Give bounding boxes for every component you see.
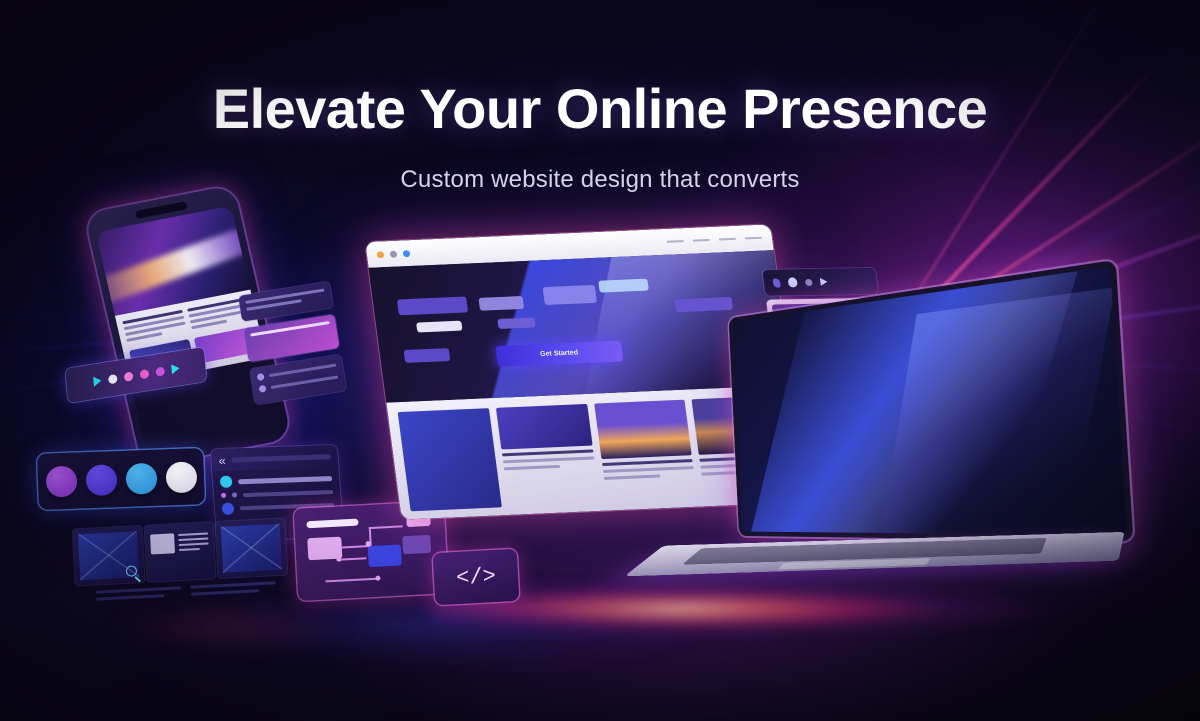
laptop-base — [624, 532, 1124, 576]
flow-node — [368, 544, 402, 567]
image-card[interactable] — [216, 518, 288, 578]
page-title: Elevate Your Online Presence — [0, 76, 1200, 141]
traffic-light-minimize-icon[interactable] — [389, 250, 397, 257]
toolbar-dot[interactable] — [139, 369, 149, 379]
traffic-light-maximize-icon[interactable] — [402, 250, 410, 257]
side-card[interactable] — [250, 355, 346, 405]
color-swatch-palette[interactable] — [37, 448, 205, 510]
laptop-mockup[interactable] — [648, 292, 1138, 592]
hero-block — [417, 321, 463, 332]
code-card[interactable]: </> — [433, 549, 520, 605]
page-subtitle: Custom website design that converts — [0, 166, 1200, 194]
image-search-card[interactable] — [73, 526, 145, 586]
play-arrow-icon[interactable] — [93, 376, 102, 387]
hero-block — [542, 285, 597, 305]
phone-text-column — [122, 310, 187, 345]
toolbar-dot[interactable] — [123, 371, 133, 381]
traffic-light-close-icon[interactable] — [376, 251, 384, 258]
hero-block — [397, 296, 468, 315]
laptop-lid — [729, 260, 1134, 542]
double-chevron-left-icon[interactable]: « — [218, 453, 226, 466]
code-glyph-icon: </> — [456, 563, 497, 590]
laptop-wallpaper — [732, 266, 1127, 535]
thumbnail-card-strip — [73, 518, 288, 585]
toolbar-dot[interactable] — [155, 366, 165, 376]
flow-node — [402, 535, 431, 554]
browser-nav-links[interactable] — [667, 236, 763, 243]
hero-block — [478, 296, 524, 310]
magnifier-icon — [125, 565, 137, 577]
content-card[interactable] — [496, 404, 600, 507]
text-block-card[interactable] — [144, 522, 216, 582]
play-glyph-icon — [820, 278, 828, 286]
circle-glyph-icon — [805, 279, 813, 286]
flow-title-bar — [306, 519, 358, 529]
hero-block — [404, 348, 450, 362]
color-swatch[interactable] — [125, 462, 157, 494]
droplet-glyph-icon — [788, 277, 798, 287]
play-arrow-icon[interactable] — [171, 363, 180, 374]
hero-banner: « </> — [0, 0, 1200, 721]
toolbar-dot[interactable] — [107, 374, 117, 384]
floating-side-cards — [238, 282, 350, 427]
color-swatch[interactable] — [165, 461, 197, 493]
shape-glyph-icon — [773, 278, 781, 287]
color-swatch[interactable] — [45, 465, 77, 497]
hero-block — [498, 318, 536, 329]
side-card[interactable] — [243, 314, 339, 362]
hero-block — [598, 279, 648, 293]
content-card[interactable] — [398, 408, 502, 511]
color-swatch[interactable] — [85, 464, 117, 496]
floor-glow-pink — [60, 600, 400, 656]
